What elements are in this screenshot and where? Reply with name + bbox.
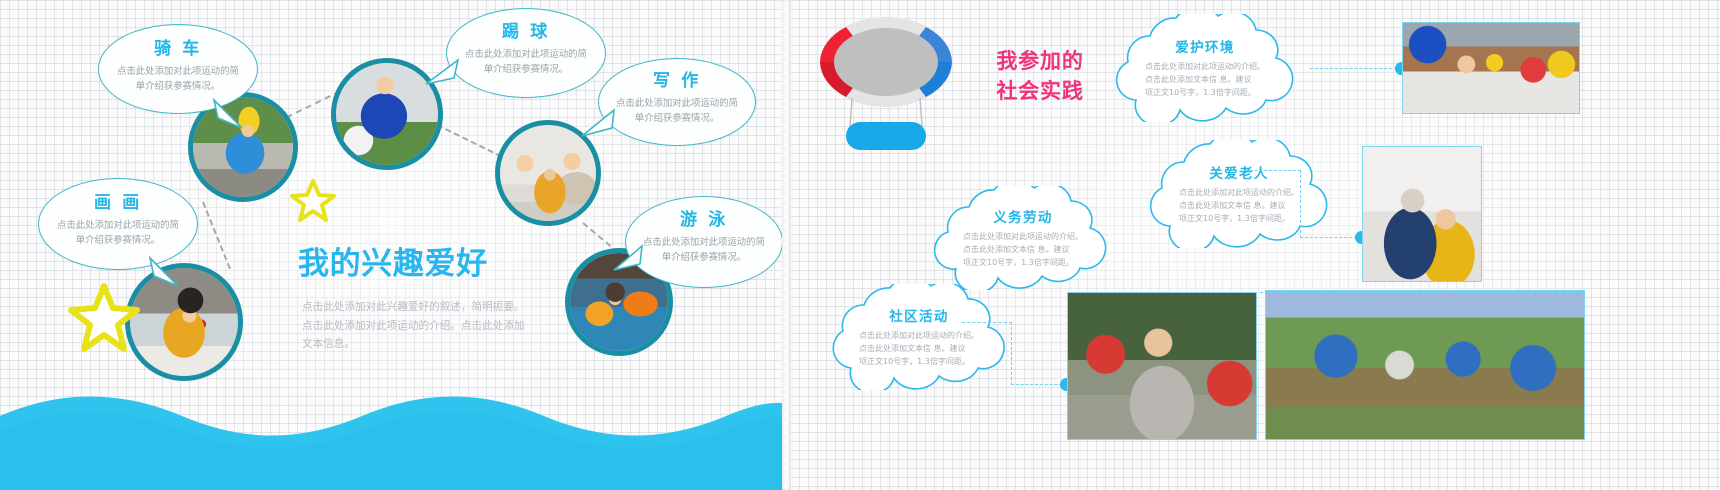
connector-bike-paint xyxy=(202,202,231,270)
wave-decoration xyxy=(0,372,782,490)
photo-elderly-care-image xyxy=(1363,147,1481,281)
bubble-swimming-tail xyxy=(612,244,644,274)
cloud-environment-body-line1: 点击此处添加对此项运动的介绍。 xyxy=(1145,61,1265,74)
cloud-environment-body: 点击此处添加对此项运动的介绍。 点击此处添加文本信 息。建议 项正文10号字，1… xyxy=(1145,61,1265,100)
page-title-line1: 我参加的 xyxy=(996,49,1083,73)
bubble-painting-tail xyxy=(148,256,182,290)
cloud-community-text: 社区活动 点击此处添加对此项运动的介绍。 点击此处添加文本信 息。建议 项正文1… xyxy=(812,284,1026,390)
cloud-community-body-line3: 项正文10号字，1.3倍字间距。 xyxy=(859,356,979,369)
cloud-elderly[interactable]: 关爱老人 点击此处添加对此项运动的介绍。 点击此处添加文本信 息。建议 项正文1… xyxy=(1130,140,1348,248)
connector-soccer-write xyxy=(437,124,503,157)
connector-cloud-community-bottom xyxy=(1011,384,1067,385)
cloud-elderly-title: 关爱老人 xyxy=(1209,162,1268,182)
photo-field-labor-image xyxy=(1266,291,1584,439)
cloud-elderly-body-line3: 项正文10号字，1.3倍字间距。 xyxy=(1179,213,1299,226)
cloud-community-body-line2: 点击此处添加文本信 息。建议 xyxy=(859,343,979,356)
cloud-volunteer-labor-text: 义务劳动 点击此处添加对此项运动的介绍。 点击此处添加文本信 息。建议 项正文1… xyxy=(918,186,1128,290)
page-title-right: 我参加的 社会实践 xyxy=(980,46,1100,107)
page-title-line2: 社会实践 xyxy=(996,79,1083,103)
page-title: 我的兴趣爱好 xyxy=(298,238,488,283)
cloud-volunteer-labor[interactable]: 义务劳动 点击此处添加对此项运动的介绍。 点击此处添加文本信 息。建议 项正文1… xyxy=(918,186,1128,290)
cloud-environment-body-line3: 项正文10号字，1.3倍字间距。 xyxy=(1145,87,1265,100)
bubble-swimming[interactable]: 游 泳 点击此处添加对此项运动的简单介绍获参赛情况。 xyxy=(625,196,782,288)
cloud-volunteer-labor-title: 义务劳动 xyxy=(993,206,1052,226)
bubble-writing-title: 写 作 xyxy=(599,73,755,90)
photo-painting[interactable] xyxy=(125,263,243,381)
bubble-writing[interactable]: 写 作 点击此处添加对此项运动的简单介绍获参赛情况。 xyxy=(598,58,756,146)
bubble-swimming-title: 游 泳 xyxy=(626,212,782,229)
slide-hobbies: 骑 车 点击此处添加对此项运动的简单介绍获参赛情况。 踢 球 点击此处添加对此项… xyxy=(0,0,782,490)
cloud-elderly-body-line2: 点击此处添加文本信 息。建议 xyxy=(1179,200,1299,213)
cloud-volunteer-labor-body-line2: 点击此处添加文本信 息。建议 xyxy=(963,244,1083,257)
cloud-environment[interactable]: 爱护环境 点击此处添加对此项运动的介绍。 点击此处添加文本信 息。建议 项正文1… xyxy=(1096,14,1314,122)
bubble-soccer-body: 点击此处添加对此项运动的简单介绍获参赛情况。 xyxy=(447,48,605,77)
photo-environment-street-image xyxy=(1403,23,1579,113)
photo-painting-image xyxy=(130,268,238,376)
cloud-community-body-line1: 点击此处添加对此项运动的介绍。 xyxy=(859,330,979,343)
bubble-writing-body: 点击此处添加对此项运动的简单介绍获参赛情况。 xyxy=(599,97,755,126)
cloud-environment-text: 爱护环境 点击此处添加对此项运动的介绍。 点击此处添加文本信 息。建议 项正文1… xyxy=(1096,14,1314,122)
connector-cloud-elderly-top xyxy=(1245,170,1301,171)
bubble-painting-title: 画 画 xyxy=(39,195,197,212)
connector-cloud-elderly-vert xyxy=(1300,170,1301,238)
cloud-volunteer-labor-body: 点击此处添加对此项运动的介绍。 点击此处添加文本信 息。建议 项正文10号字，1… xyxy=(963,231,1083,270)
connector-rail-bottom xyxy=(1260,292,1585,293)
star-icon-small xyxy=(290,178,336,224)
photo-environment-street[interactable] xyxy=(1402,22,1580,114)
cloud-environment-body-line2: 点击此处添加文本信 息。建议 xyxy=(1145,74,1265,87)
bubble-soccer[interactable]: 踢 球 点击此处添加对此项运动的简单介绍获参赛情况。 xyxy=(446,8,606,98)
bubble-swimming-body: 点击此处添加对此项运动的简单介绍获参赛情况。 xyxy=(626,236,782,265)
cloud-community-body: 点击此处添加对此项运动的介绍。 点击此处添加文本信 息。建议 项正文10号字，1… xyxy=(859,330,979,369)
cloud-volunteer-labor-body-line1: 点击此处添加对此项运动的介绍。 xyxy=(963,231,1083,244)
cloud-community-title: 社区活动 xyxy=(889,305,948,325)
cloud-elderly-body: 点击此处添加对此项运动的介绍。 点击此处添加文本信 息。建议 项正文10号字，1… xyxy=(1179,187,1299,226)
photo-elderly-care[interactable] xyxy=(1362,146,1482,282)
connector-cloud-elderly-bottom xyxy=(1300,237,1362,238)
connector-cloud-environment xyxy=(1310,68,1402,69)
bubble-cycling-title: 骑 车 xyxy=(99,41,257,58)
slide-social-practice: 我参加的 社会实践 爱护环境 点击此处添加对此项运动的介绍。 点击此处添加文本信… xyxy=(790,0,1720,490)
star-icon-large xyxy=(68,282,140,354)
cloud-volunteer-labor-body-line3: 项正文10号字，1.3倍字间距。 xyxy=(963,257,1083,270)
bubble-cycling-body: 点击此处添加对此项运动的简单介绍获参赛情况。 xyxy=(99,65,257,94)
photo-community-volunteers-image xyxy=(1068,293,1256,439)
cloud-environment-title: 爱护环境 xyxy=(1175,36,1234,56)
cloud-elderly-text: 关爱老人 点击此处添加对此项运动的介绍。 点击此处添加文本信 息。建议 项正文1… xyxy=(1130,140,1348,248)
photo-community-volunteers[interactable] xyxy=(1067,292,1257,440)
slide-deck: 骑 车 点击此处添加对此项运动的简单介绍获参赛情况。 踢 球 点击此处添加对此项… xyxy=(0,0,1720,490)
cloud-elderly-body-line1: 点击此处添加对此项运动的介绍。 xyxy=(1179,187,1299,200)
connector-cloud-community-top xyxy=(962,322,1012,323)
cloud-community[interactable]: 社区活动 点击此处添加对此项运动的介绍。 点击此处添加文本信 息。建议 项正文1… xyxy=(812,284,1026,390)
bubble-cycling-tail xyxy=(212,98,246,132)
bubble-painting-body: 点击此处添加对此项运动的简单介绍获参赛情况。 xyxy=(39,219,197,248)
bubble-soccer-title: 踢 球 xyxy=(447,24,605,41)
photo-field-labor[interactable] xyxy=(1265,290,1585,440)
photo-soccer-image xyxy=(336,63,438,165)
connector-cloud-community-vert xyxy=(1011,322,1012,385)
hot-air-balloon-icon xyxy=(806,10,966,155)
bubble-soccer-tail xyxy=(424,58,460,90)
slide-separator xyxy=(782,0,790,490)
bubble-writing-tail xyxy=(580,108,616,140)
page-subtitle: 点击此处添加对此兴趣爱好的叙述，简明扼要。点击此处添加对此项运动的介绍。点击此处… xyxy=(302,298,532,354)
